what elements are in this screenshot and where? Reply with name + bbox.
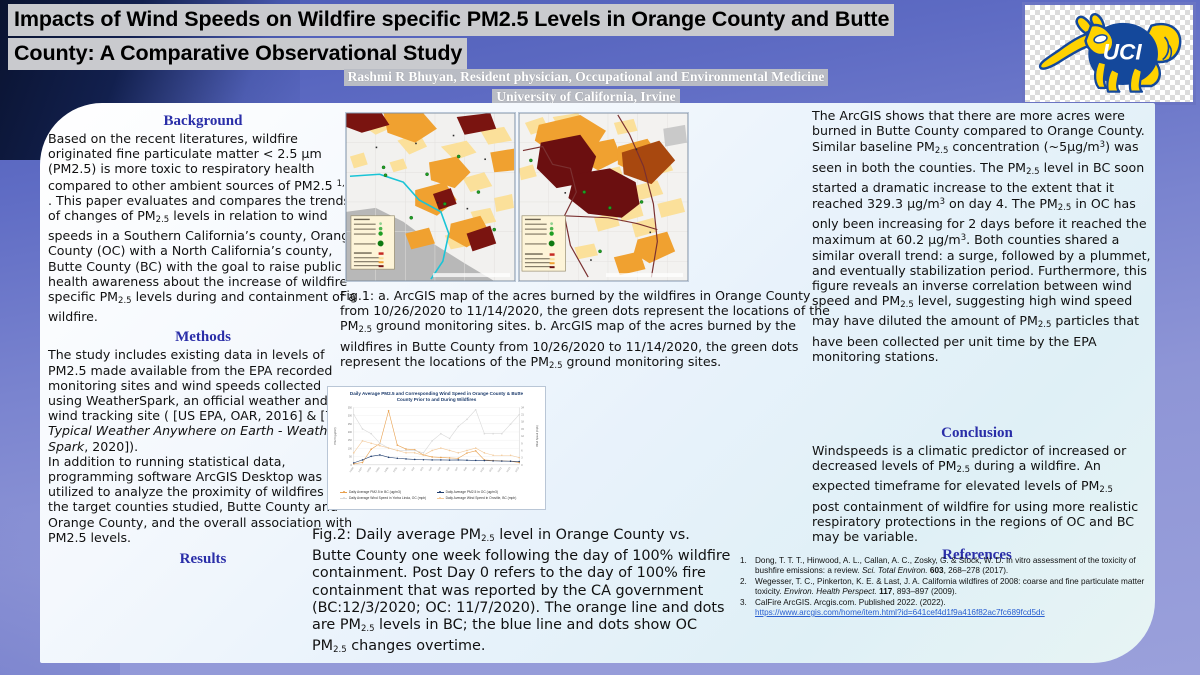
reference-text: CalFire ArcGIS. Arcgis.com. Published 20… [755,598,1145,618]
background-paragraph: Based on the recent literatures, wildfir… [48,131,358,324]
svg-text:11/14: 11/14 [515,467,520,473]
svg-text:100: 100 [348,447,353,450]
legend-marker [437,497,444,500]
reference-item: 2.Wegesser, T. C., Pinkerton, K. E. & La… [740,577,1145,597]
figure1-maps [345,112,690,282]
map-a-graphic [346,113,515,281]
legend-marker [340,491,347,494]
svg-text:350: 350 [348,406,353,409]
figure1-caption: Fig.1: a. ArcGIS map of the acres burned… [340,288,830,374]
svg-text:11/7: 11/7 [455,467,459,472]
svg-text:11/12: 11/12 [498,467,503,473]
svg-text:200: 200 [348,431,353,434]
uci-logo-text: UCI [1103,40,1143,65]
reference-number: 1. [740,556,750,576]
svg-text:11/3: 11/3 [420,467,424,472]
uci-anteater-logo: UCI [1022,2,1196,105]
legend-label: Daily Average Wind Speed in Yorba Linda,… [349,495,426,501]
svg-text:11/5: 11/5 [438,467,442,472]
column-right: The ArcGIS shows that there are more acr… [812,108,1152,364]
svg-text:PM2.5 (µg/m3): PM2.5 (µg/m3) [333,427,337,444]
reference-item: 3. CalFire ArcGIS. Arcgis.com. Published… [740,598,1145,618]
conclusion-block: Conclusion Windspeeds is a climatic pred… [812,424,1142,565]
heading-conclusion: Conclusion [812,424,1142,442]
map-b-legend [522,216,565,271]
svg-text:10/31: 10/31 [393,467,398,473]
svg-text:10/30: 10/30 [385,467,390,473]
svg-text:12: 12 [521,435,524,438]
svg-text:Wind Speed (mph): Wind Speed (mph) [535,425,539,447]
legend-marker [340,497,347,500]
figure2-chart: Daily Average PM2.5 and Corresponding Wi… [327,386,546,510]
poster-title: Impacts of Wind Speeds on Wildfire speci… [8,4,1018,70]
svg-text:0: 0 [350,464,352,467]
reference-text: Dong, T. T. T., Hinwood, A. L., Callan, … [755,556,1145,576]
author-line-1: Rashmi R Bhuyan, Resident physician, Occ… [344,69,829,86]
heading-background: Background [48,112,358,130]
conclusion-paragraph: Windspeeds is a climatic predictor of in… [812,443,1142,544]
svg-text:18: 18 [521,421,524,424]
reference-text: Wegesser, T. C., Pinkerton, K. E. & Last… [755,577,1145,597]
svg-text:21: 21 [521,414,524,417]
svg-text:11/6: 11/6 [446,467,450,472]
svg-text:11/11: 11/11 [489,467,494,473]
results-paragraph: The ArcGIS shows that there are more acr… [812,108,1152,364]
reference-link[interactable]: https://www.arcgis.com/home/item.html?id… [755,608,1045,617]
svg-text:10/27: 10/27 [358,467,363,473]
heading-methods: Methods [48,328,358,346]
legend-label: Daily Average Wind Speed in Oroville, BC… [446,495,517,501]
chart-legend-item: Daily Average Wind Speed in Oroville, BC… [437,495,530,501]
column-left: Background Based on the recent literatur… [48,112,358,569]
svg-text:24: 24 [521,406,524,409]
svg-text:11/2: 11/2 [411,467,415,472]
svg-text:10/26: 10/26 [350,467,355,473]
svg-text:10/28: 10/28 [367,467,372,473]
title-line-1: Impacts of Wind Speeds on Wildfire speci… [8,4,894,36]
svg-text:11/10: 11/10 [480,467,485,473]
figure1-caption-block: Fig.1: a. ArcGIS map of the acres burned… [340,288,830,374]
svg-text:3: 3 [521,457,523,460]
map-a-legend [351,216,394,269]
figure2-caption-block: Fig.2: Daily average PM2.5 level in Oran… [312,527,732,659]
reference-number: 3. [740,598,750,618]
svg-text:15: 15 [521,428,524,431]
svg-text:9: 9 [521,442,523,445]
author-block: Rashmi R Bhuyan, Resident physician, Occ… [236,66,936,106]
chart-title: Daily Average PM2.5 and Corresponding Wi… [328,387,545,403]
legend-marker [437,491,444,494]
chart-legend: Daily Average PM2.5 in BC (ug/m3)Daily A… [328,489,545,501]
map-b-graphic [519,113,688,281]
chart-legend-item: Daily Average Wind Speed in Yorba Linda,… [340,495,433,501]
svg-text:6: 6 [521,449,523,452]
poster-root: Impacts of Wind Speeds on Wildfire speci… [0,0,1200,675]
reference-item: 1.Dong, T. T. T., Hinwood, A. L., Callan… [740,556,1145,576]
reference-number: 2. [740,577,750,597]
svg-text:11/9: 11/9 [472,467,476,472]
chart-plot-area: 05010015020025030035003691215182124PM2.5… [328,403,545,489]
references-list: 1.Dong, T. T. T., Hinwood, A. L., Callan… [740,556,1145,619]
arcgis-map-orange-county [345,112,516,282]
arcgis-map-butte-county [518,112,689,282]
svg-text:11/8: 11/8 [464,467,468,472]
svg-text:11/4: 11/4 [429,467,433,472]
figure2-caption: Fig.2: Daily average PM2.5 level in Oran… [312,527,732,659]
svg-text:250: 250 [348,423,353,426]
chart-svg: 05010015020025030035003691215182124PM2.5… [328,403,545,489]
svg-text:10/29: 10/29 [376,467,381,473]
methods-paragraph-1: The study includes existing data in leve… [48,347,358,453]
svg-text:50: 50 [349,456,352,459]
svg-text:11/1: 11/1 [403,467,407,472]
anteater-icon: UCI [1025,5,1193,102]
svg-text:300: 300 [348,415,353,418]
svg-text:11/13: 11/13 [507,467,512,473]
svg-text:150: 150 [348,439,353,442]
svg-text:0: 0 [521,464,523,467]
